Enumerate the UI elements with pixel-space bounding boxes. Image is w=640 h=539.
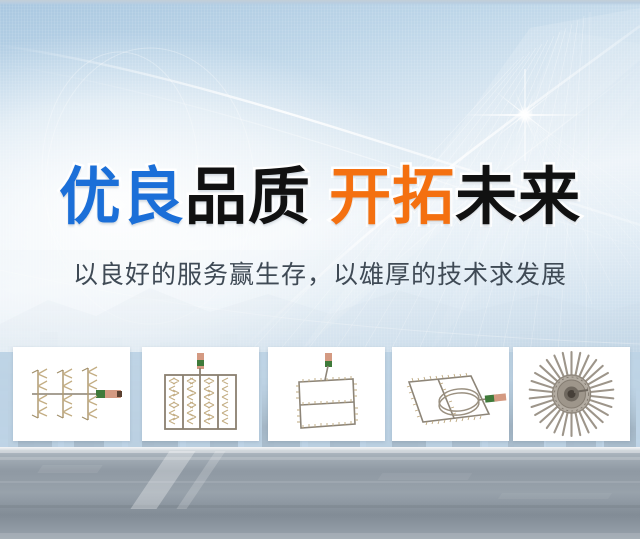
headline-segment-2: 品质 (185, 163, 311, 232)
product-card-3[interactable]: 双层方框电镀挂架 (268, 347, 385, 441)
concrete-ground-surface (0, 447, 640, 539)
plating-rack-multi-branch (14, 348, 129, 440)
page-title: 优良品质 开拓未来 (0, 163, 640, 233)
headline-segment-1: 优良 (59, 163, 185, 232)
plating-rack-two-tier-frame (269, 348, 384, 440)
product-card-4[interactable]: 圆环方框电镀挂架 (392, 347, 509, 441)
plating-rack-radial-star (514, 348, 629, 440)
plating-rack-ring-frame (393, 348, 508, 440)
headline-segment-3: 开拓 (329, 163, 455, 232)
product-card-5[interactable]: 放射状圆盘电镀挂具 (513, 347, 630, 441)
product-card-1[interactable]: 多支架电镀挂具 (13, 347, 130, 441)
product-thumbnail-strip: 多支架电镀挂具 (0, 347, 640, 441)
product-card-2[interactable]: 梳齿形电镀挂架 (142, 347, 259, 441)
headline-segment-4: 未来 (455, 163, 581, 232)
plating-rack-comb-frame (143, 348, 258, 440)
promo-banner: 优良品质 开拓未来 以良好的服务赢生存，以雄厚的技术求发展 (0, 0, 640, 539)
ground-highlight-line (0, 447, 640, 450)
headline-spacer (311, 163, 329, 232)
page-subtitle: 以良好的服务赢生存，以雄厚的技术求发展 (0, 258, 640, 292)
